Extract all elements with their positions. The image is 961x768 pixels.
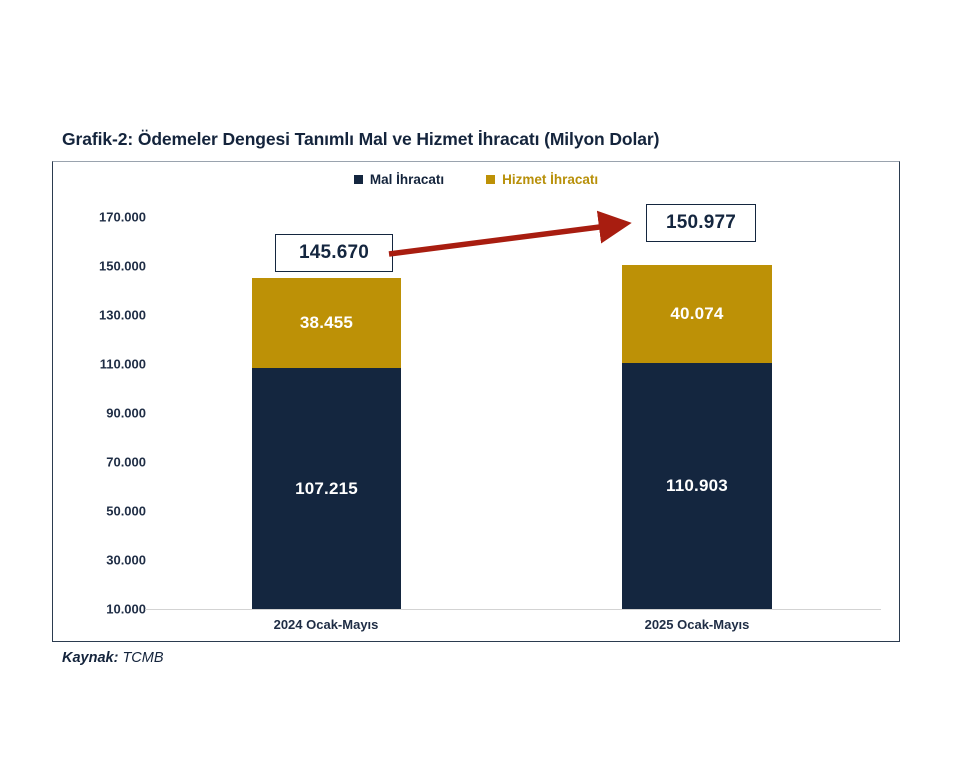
y-axis-tick-110000: 110.000	[74, 357, 146, 372]
y-axis-tick-70000: 70.000	[74, 455, 146, 470]
bar-segment-mal-2024[interactable]: 107.215	[252, 368, 401, 609]
chart-frame: Mal İhracatı Hizmet İhracatı 170.000 150…	[52, 161, 900, 642]
y-axis-tick-130000: 130.000	[74, 308, 146, 323]
bar-segment-mal-2025[interactable]: 110.903	[622, 363, 772, 609]
chart-title: Grafik-2: Ödemeler Dengesi Tanımlı Mal v…	[62, 129, 659, 150]
bar-label-mal-2025: 110.903	[666, 476, 728, 496]
bar-label-hizmet-2025: 40.074	[670, 304, 723, 324]
source-label: Kaynak:	[62, 650, 118, 666]
source-value: TCMB	[122, 650, 163, 666]
bar-label-hizmet-2024: 38.455	[300, 313, 353, 333]
callout-total-2024: 145.670	[275, 234, 393, 272]
x-axis-label-2025: 2025 Ocak-Mayıs	[567, 617, 827, 632]
x-axis-line	[145, 609, 881, 610]
bar-label-mal-2024: 107.215	[295, 479, 358, 499]
bar-segment-hizmet-2025[interactable]: 40.074	[622, 265, 772, 363]
y-axis-tick-150000: 150.000	[74, 259, 146, 274]
x-axis-label-2024: 2024 Ocak-Mayıs	[196, 617, 456, 632]
y-axis-tick-50000: 50.000	[74, 504, 146, 519]
y-axis-tick-10000: 10.000	[74, 602, 146, 617]
y-axis-tick-30000: 30.000	[74, 553, 146, 568]
y-axis-tick-170000: 170.000	[74, 210, 146, 225]
bar-segment-hizmet-2024[interactable]: 38.455	[252, 278, 401, 368]
y-axis-tick-90000: 90.000	[74, 406, 146, 421]
growth-arrow-icon	[383, 202, 653, 272]
source-note: Kaynak: TCMB	[62, 650, 164, 666]
plot-area: 170.000 150.000 130.000 110.000 90.000 7…	[53, 162, 901, 643]
bar-group-2025[interactable]: 40.074 110.903	[622, 265, 772, 609]
callout-total-2025: 150.977	[646, 204, 756, 242]
bar-group-2024[interactable]: 38.455 107.215	[252, 278, 401, 609]
